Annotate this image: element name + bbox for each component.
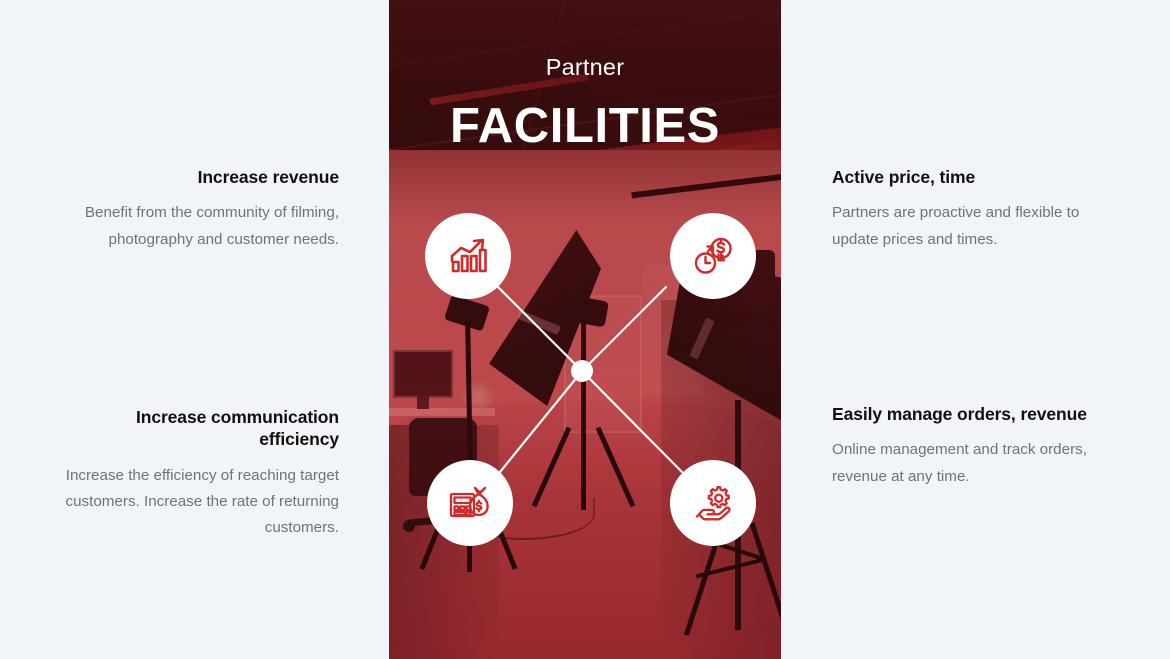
connector-line-top-right <box>582 287 666 371</box>
feature-icon-bubble-active-price-time[interactable] <box>670 213 756 299</box>
feature-icon-bubble-easily-manage-orders-revenue[interactable] <box>670 460 756 546</box>
clock-dollar-exchange-icon <box>688 231 738 281</box>
facilities-infographic: Increase revenue Benefit from the commun… <box>0 0 1170 659</box>
connector-lines <box>0 0 1170 659</box>
center-hub-dot <box>571 360 593 382</box>
hand-holding-gear-icon <box>687 477 739 529</box>
bar-chart-growth-icon <box>443 231 493 281</box>
calculator-money-bag-icon <box>444 477 496 529</box>
connector-line-bottom-left <box>500 371 582 472</box>
feature-icon-bubble-increase-communication-efficiency[interactable] <box>427 460 513 546</box>
feature-icon-bubble-increase-revenue[interactable] <box>425 213 511 299</box>
connector-line-bottom-right <box>582 371 682 472</box>
connector-line-top-left <box>498 287 582 371</box>
